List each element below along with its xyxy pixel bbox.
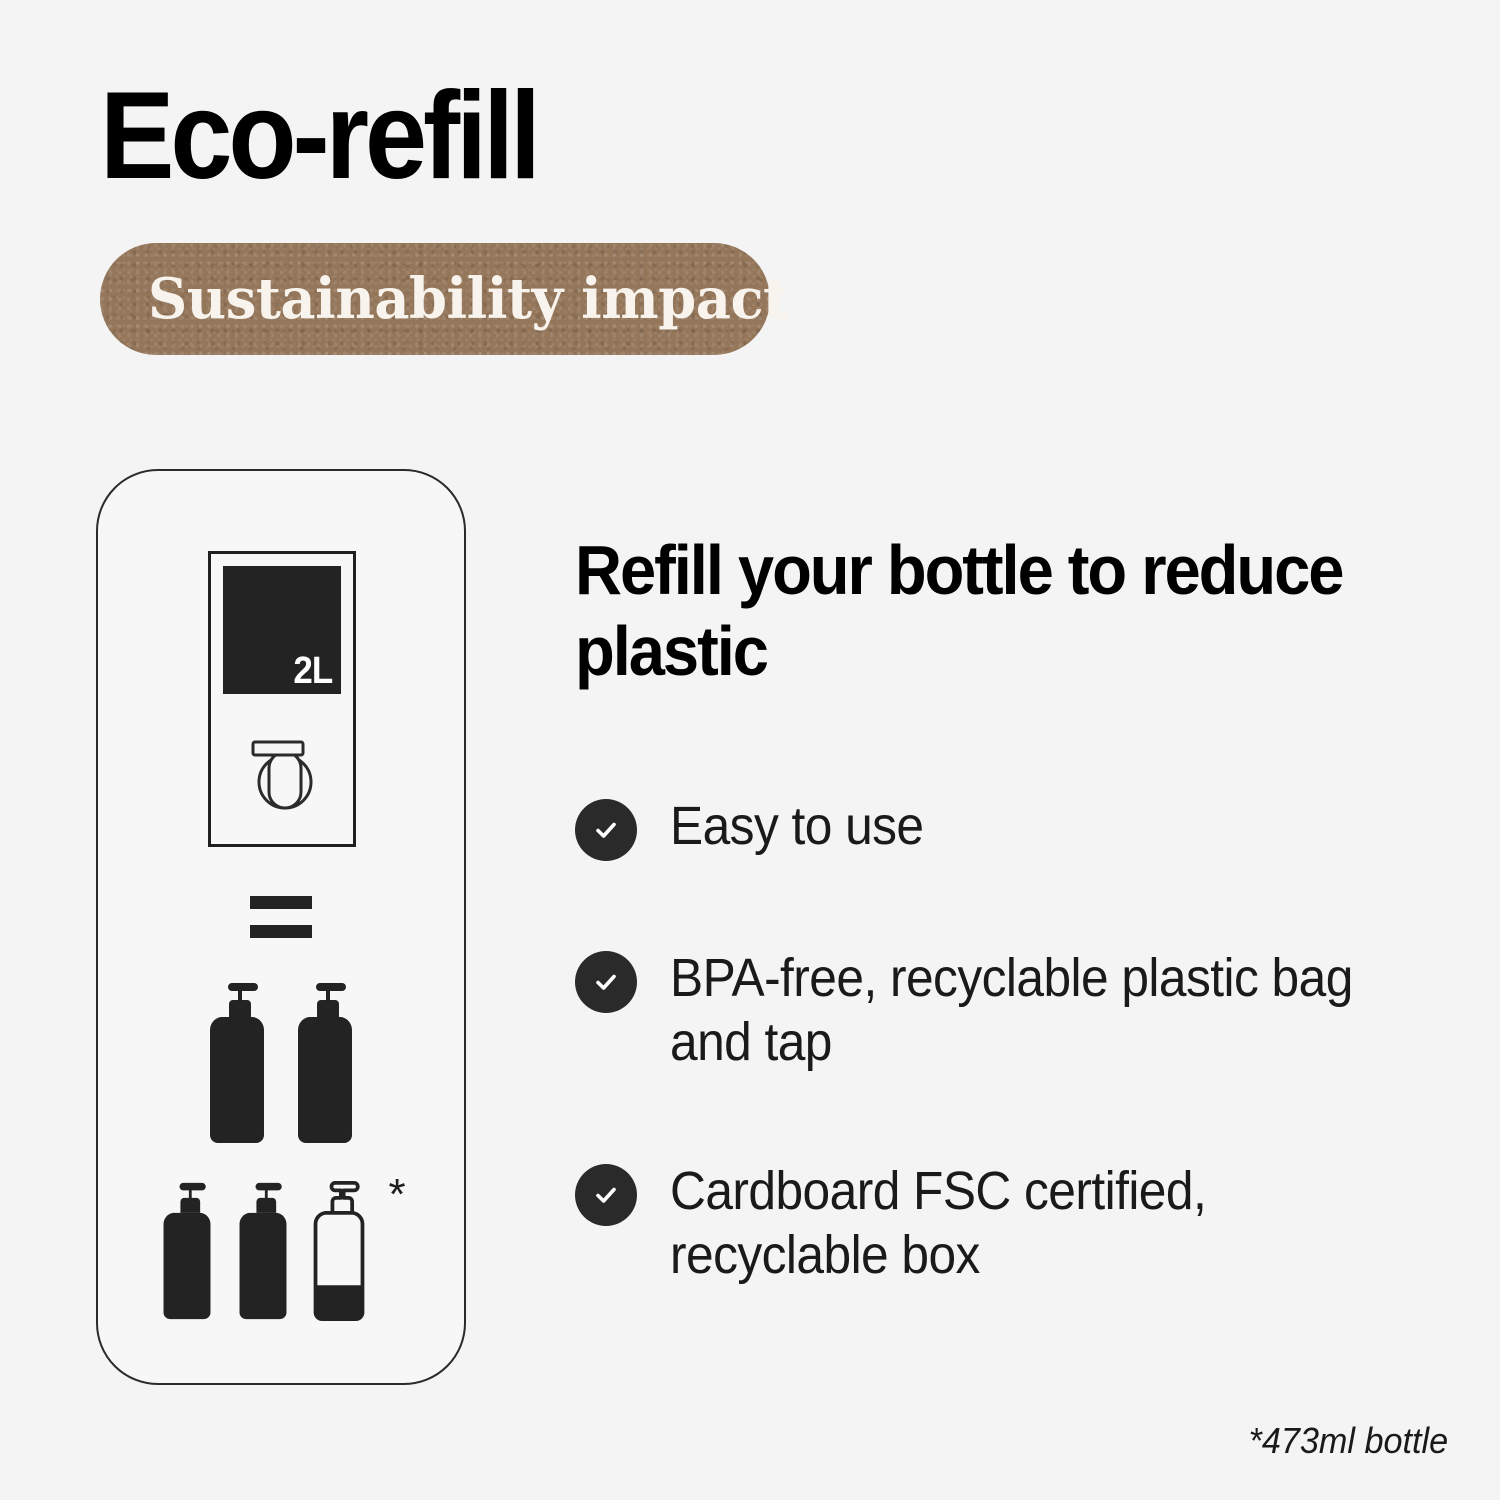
check-icon (575, 799, 637, 861)
content-column: Refill your bottle to reduce plastic Eas… (575, 530, 1435, 692)
equals-bar-top (250, 896, 312, 909)
feature-item: BPA-free, recyclable plastic bag and tap (575, 947, 1475, 1074)
page-title: Eco-refill (100, 74, 537, 198)
bottle-icon-filled (290, 979, 360, 1152)
carton-volume-label: 2L (293, 652, 332, 690)
refill-equivalence-diagram: 2L (96, 469, 466, 1385)
footnote: *473ml bottle (1248, 1420, 1448, 1462)
check-icon (575, 1164, 637, 1226)
sustainability-impact-badge-label: Sustainability impact (148, 271, 788, 327)
bottle-row-two (98, 979, 464, 1152)
feature-item: Easy to use (575, 795, 1475, 861)
footnote-asterisk-marker: * (388, 1173, 405, 1217)
feature-list: Easy to use BPA-free, recyclable plastic… (575, 795, 1475, 1374)
feature-item-label: Cardboard FSC certified, recyclable box (670, 1160, 1369, 1287)
refill-carton: 2L (208, 551, 356, 847)
equals-bar-bottom (250, 925, 312, 938)
carton-label-panel: 2L (223, 566, 341, 694)
tap-icon (243, 732, 327, 816)
bottle-icon-filled (232, 1179, 294, 1327)
feature-item-label: Easy to use (670, 795, 924, 859)
bottle-row-three: * (98, 1179, 464, 1327)
feature-item-label: BPA-free, recyclable plastic bag and tap (670, 947, 1369, 1074)
section-headline: Refill your bottle to reduce plastic (575, 530, 1375, 692)
check-icon (575, 951, 637, 1013)
feature-item: Cardboard FSC certified, recyclable box (575, 1160, 1475, 1287)
sustainability-impact-badge: Sustainability impact (100, 243, 770, 355)
bottle-icon-partial (308, 1179, 370, 1327)
equals-sign (250, 896, 312, 938)
bottle-icon-filled (202, 979, 272, 1152)
bottle-icon-filled (156, 1179, 218, 1327)
